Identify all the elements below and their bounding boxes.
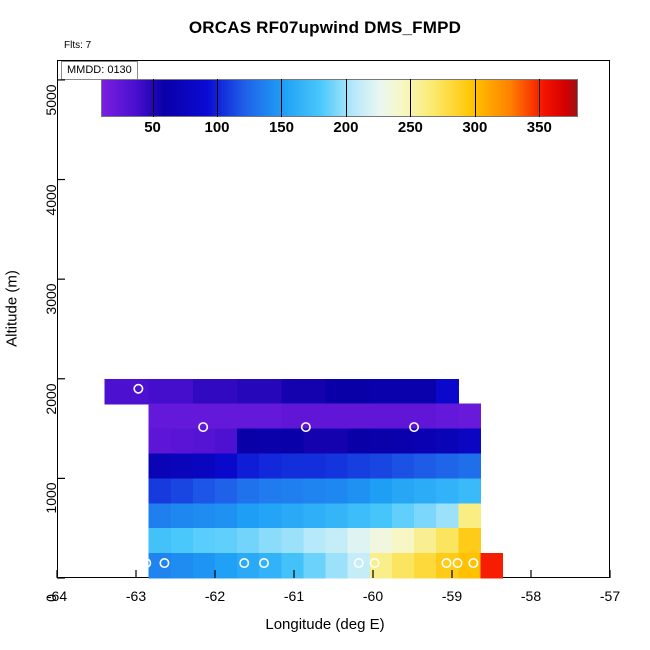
heatmap-cell <box>348 553 371 579</box>
y-tick-label: 4000 <box>43 180 59 220</box>
heatmap-cell <box>259 478 282 504</box>
heatmap-cell <box>215 478 238 504</box>
heatmap-cell <box>436 453 459 479</box>
heatmap-cell <box>237 453 260 479</box>
heatmap-cell <box>392 404 415 430</box>
heatmap-cell <box>458 429 481 455</box>
x-tick-label: -61 <box>284 588 304 604</box>
heatmap-cell <box>259 553 282 579</box>
heatmap-cell <box>370 453 393 479</box>
heatmap-cell <box>303 453 326 479</box>
heatmap-cell <box>392 553 415 579</box>
y-tick-label: 5000 <box>43 80 59 120</box>
heatmap-cell <box>171 404 194 430</box>
heatmap-cell <box>215 453 238 479</box>
heatmap-cell <box>303 429 326 455</box>
colorbar-label-350: 350 <box>527 119 552 136</box>
heatmap-cell <box>303 404 326 430</box>
heatmap-cell <box>414 503 437 529</box>
heatmap-cell <box>149 453 172 479</box>
heatmap-cell <box>370 429 393 455</box>
heatmap-cell <box>414 453 437 479</box>
heatmap-cell <box>370 528 393 554</box>
heatmap-cell <box>370 404 393 430</box>
heatmap-cell <box>215 553 238 579</box>
heatmap-cell <box>281 379 304 405</box>
heatmap-cell <box>458 528 481 554</box>
heatmap-cell <box>458 453 481 479</box>
heatmap-cell <box>326 503 349 529</box>
heatmap-cell <box>193 429 216 455</box>
heatmap-cell <box>215 379 238 405</box>
heatmap-cell <box>104 379 127 405</box>
heatmap-cell <box>458 404 481 430</box>
heatmap-cell <box>348 453 371 479</box>
heatmap-cell <box>414 553 437 579</box>
heatmap-cell <box>171 528 194 554</box>
heatmap-cell <box>193 503 216 529</box>
heatmap-cell <box>436 503 459 529</box>
heatmap-cell <box>414 528 437 554</box>
heatmap-cell <box>281 503 304 529</box>
heatmap-cell <box>193 404 216 430</box>
x-tick-label: -57 <box>600 588 620 604</box>
heatmap-cell <box>392 478 415 504</box>
heatmap-cell <box>259 429 282 455</box>
heatmap-cell <box>237 478 260 504</box>
heatmap-cell <box>392 453 415 479</box>
x-axis-label: Longitude (deg E) <box>0 616 650 633</box>
heatmap-cell <box>326 553 349 579</box>
x-tick-label: -58 <box>521 588 541 604</box>
heatmap-cell <box>149 503 172 529</box>
heatmap-cell <box>237 503 260 529</box>
y-tick-label: 3000 <box>43 279 59 319</box>
heatmap-cell <box>436 478 459 504</box>
colorbar-tick-100 <box>217 79 218 117</box>
heatmap-cell <box>259 528 282 554</box>
heatmap-cell <box>171 429 194 455</box>
heatmap-cell <box>193 478 216 504</box>
heatmap-cell <box>370 503 393 529</box>
heatmap-cell <box>237 429 260 455</box>
heatmap-cell <box>215 429 238 455</box>
heatmap-cell <box>348 528 371 554</box>
heatmap-cell <box>171 453 194 479</box>
colorbar-gradient <box>101 79 578 117</box>
heatmap-cell <box>370 478 393 504</box>
y-axis-label: Altitude (m) <box>4 209 21 409</box>
x-tick-label: -59 <box>442 588 462 604</box>
heatmap-cell <box>392 429 415 455</box>
heatmap-cell <box>215 404 238 430</box>
colorbar-label-50: 50 <box>144 119 161 136</box>
colorbar-tick-50 <box>153 79 154 117</box>
heatmap-cell <box>303 478 326 504</box>
heatmap-cell <box>171 553 194 579</box>
heatmap-cell <box>414 379 437 405</box>
heatmap-cell <box>281 453 304 479</box>
heatmap-cell <box>326 478 349 504</box>
y-tick-label: 2000 <box>43 379 59 419</box>
colorbar-label-100: 100 <box>205 119 230 136</box>
heatmap-cell <box>149 404 172 430</box>
heatmap-cell <box>149 379 172 405</box>
heatmap-cell <box>171 503 194 529</box>
sample-marker <box>460 383 468 391</box>
y-tick-label: 0 <box>43 578 59 618</box>
colorbar-tick-300 <box>475 79 476 117</box>
heatmap-cell <box>171 478 194 504</box>
heatmap-cell <box>303 528 326 554</box>
colorbar-label-250: 250 <box>398 119 423 136</box>
heatmap-cell <box>414 429 437 455</box>
heatmap-cell <box>348 429 371 455</box>
heatmap-cell <box>326 379 349 405</box>
plot-canvas: ORCAS RF07upwind DMS_FMPD Flts: 7 MMDD: … <box>0 0 650 650</box>
colorbar-tick-350 <box>539 79 540 117</box>
heatmap-cell <box>259 404 282 430</box>
heatmap-cell <box>458 503 481 529</box>
heatmap-cell <box>326 404 349 430</box>
x-tick-label: -62 <box>205 588 225 604</box>
heatmap-cell <box>171 379 194 405</box>
heatmap-cell <box>436 379 459 405</box>
x-tick-label: -63 <box>126 588 146 604</box>
colorbar-tick-150 <box>281 79 282 117</box>
heatmap-cell <box>480 553 503 579</box>
heatmap-cell <box>326 528 349 554</box>
colorbar-label-150: 150 <box>269 119 294 136</box>
heatmap-cell <box>303 553 326 579</box>
heatmap-cell <box>259 379 282 405</box>
y-tick-label: 1000 <box>43 478 59 518</box>
heatmap-cell <box>303 503 326 529</box>
colorbar-tick-200 <box>346 79 347 117</box>
heatmap-cell <box>193 453 216 479</box>
heatmap-cell <box>348 379 371 405</box>
heatmap-cell <box>326 453 349 479</box>
heatmap-cell <box>281 429 304 455</box>
heatmap-cell <box>281 553 304 579</box>
heatmap-cell <box>348 404 371 430</box>
heatmap-cell <box>237 528 260 554</box>
heatmap-cell <box>127 379 150 405</box>
heatmap-cell <box>348 478 371 504</box>
heatmap-cell <box>259 453 282 479</box>
heatmap-cell <box>215 503 238 529</box>
heatmap-cell <box>303 379 326 405</box>
x-tick-label: -60 <box>363 588 383 604</box>
heatmap-cell <box>149 528 172 554</box>
heatmap-cell <box>436 429 459 455</box>
colorbar-tick-250 <box>410 79 411 117</box>
heatmap-cell <box>326 429 349 455</box>
heatmap-cell <box>370 379 393 405</box>
heatmap-cell <box>414 478 437 504</box>
heatmap-cell <box>392 379 415 405</box>
heatmap-cell <box>193 379 216 405</box>
heatmap-cell <box>193 528 216 554</box>
heatmap-cell <box>458 478 481 504</box>
colorbar-label-200: 200 <box>333 119 358 136</box>
heatmap-cell <box>149 478 172 504</box>
heatmap-cell <box>215 528 238 554</box>
heatmap-cell <box>392 528 415 554</box>
heatmap-cell <box>392 503 415 529</box>
heatmap-cell <box>193 553 216 579</box>
colorbar[interactable]: 50100150200250300350 <box>101 79 578 117</box>
heatmap-cell <box>348 503 371 529</box>
heatmap-cell <box>237 404 260 430</box>
heatmap-cell <box>281 528 304 554</box>
heatmap-cell <box>436 528 459 554</box>
heatmap-cell <box>149 429 172 455</box>
heatmap-cell <box>259 503 282 529</box>
heatmap-cell <box>237 379 260 405</box>
heatmap-cell <box>436 404 459 430</box>
colorbar-label-300: 300 <box>462 119 487 136</box>
heatmap-cell <box>281 404 304 430</box>
heatmap-cell <box>281 478 304 504</box>
